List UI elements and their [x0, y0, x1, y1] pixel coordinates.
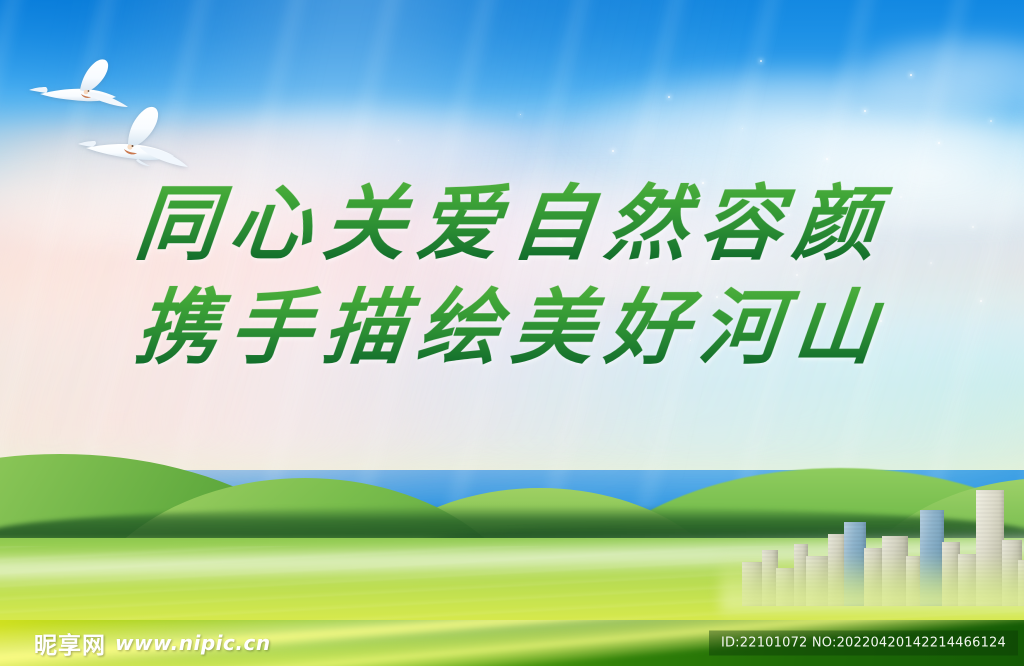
brand-url-link[interactable]: www.nipic.cn: [115, 631, 271, 655]
sky-background: [0, 0, 1024, 470]
poster-canvas: 同心关爱自然容颜 携手描绘美好河山 昵享网 www.nipic.cn ID:22…: [0, 0, 1024, 666]
brand-name-cn: 昵享网: [34, 626, 106, 660]
sparkle-particles: [0, 0, 1024, 460]
city-haze-overlay: [720, 554, 1024, 612]
dove-icon: [78, 104, 190, 172]
city-skyline: [740, 478, 1024, 606]
image-id-badge: ID:22101072 NO:20220420142214466124: [709, 631, 1018, 656]
footer-watermark-bar: 昵享网 www.nipic.cn ID:22101072 NO:20220420…: [0, 620, 1024, 666]
brand-watermark[interactable]: 昵享网 www.nipic.cn: [34, 626, 271, 660]
